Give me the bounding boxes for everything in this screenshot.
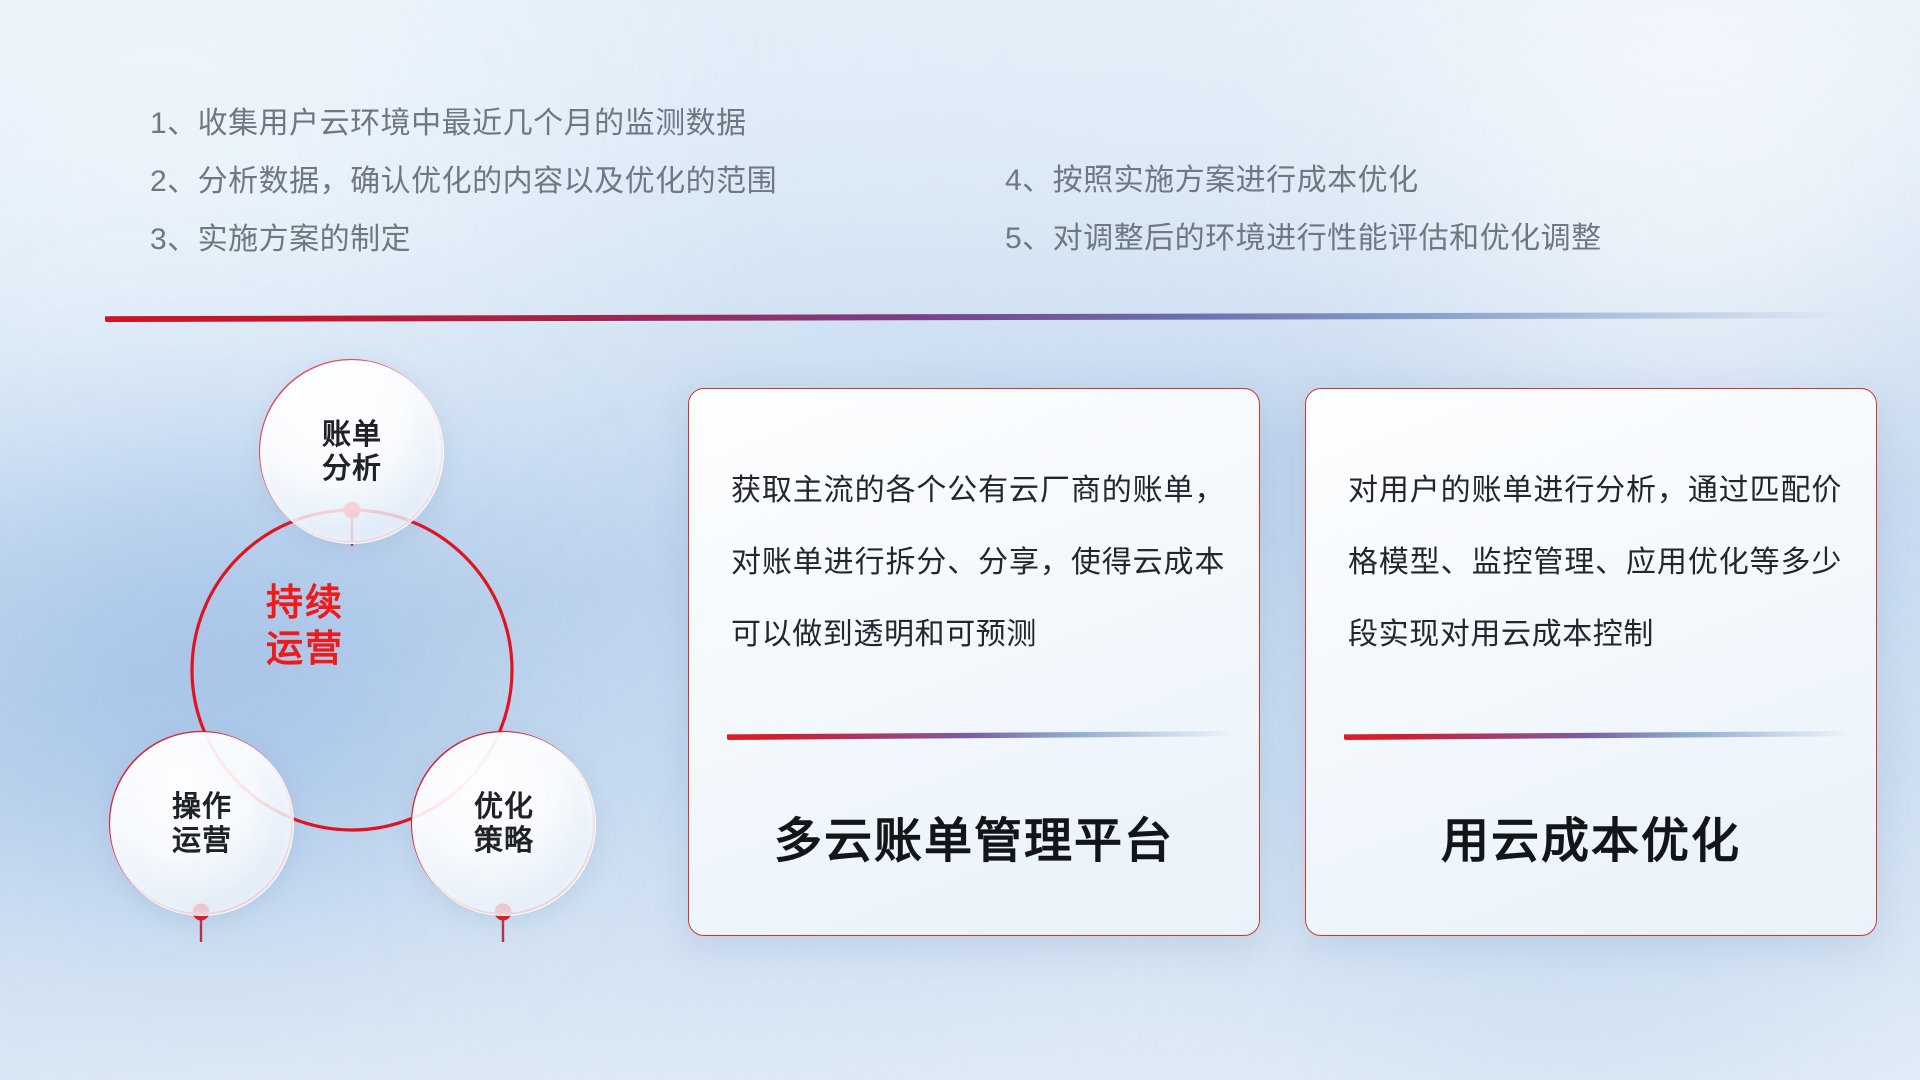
card-accent-rule [1344, 731, 1848, 740]
bullet-item: 3、实施方案的制定 [150, 211, 777, 269]
venn-bubble-label: 优化 策略 [474, 790, 534, 858]
card-accent-rule [727, 731, 1231, 740]
bullet-item: 5、对调整后的环境进行性能评估和优化调整 [1005, 210, 1602, 268]
feature-card-multicloud-billing[interactable]: 获取主流的各个公有云厂商的账单，对账单进行拆分、分享，使得云成本可以做到透明和可… [688, 388, 1260, 936]
bullet-list-right: 4、按照实施方案进行成本优化 5、对调整后的环境进行性能评估和优化调整 [1005, 152, 1602, 268]
venn-bubble-label: 账单 分析 [322, 418, 382, 486]
divider-bar [105, 312, 1847, 322]
venn-bubble-billing-analysis[interactable]: 账单 分析 [260, 360, 444, 544]
bullet-list-left: 1、收集用户云环境中最近几个月的监测数据 2、分析数据，确认优化的内容以及优化的… [150, 95, 777, 269]
bullet-item: 4、按照实施方案进行成本优化 [1005, 152, 1602, 210]
venn-bubble-operations[interactable]: 操作 运营 [110, 732, 294, 916]
card-description: 获取主流的各个公有云厂商的账单，对账单进行拆分、分享，使得云成本可以做到透明和可… [731, 455, 1225, 671]
feature-card-cost-optimization[interactable]: 对用户的账单进行分析，通过匹配价格模型、监控管理、应用优化等多少段实现对用云成本… [1305, 388, 1877, 936]
venn-bubble-optimization-strategy[interactable]: 优化 策略 [412, 732, 596, 916]
venn-bubble-label: 操作 运营 [172, 790, 232, 858]
card-title: 多云账单管理平台 [689, 801, 1259, 871]
venn-diagram: 持续 运营 账单 分析 操作 运营 优化 策略 [100, 350, 660, 950]
section-divider [105, 312, 1847, 322]
bullet-item: 1、收集用户云环境中最近几个月的监测数据 [150, 95, 777, 153]
card-description: 对用户的账单进行分析，通过匹配价格模型、监控管理、应用优化等多少段实现对用云成本… [1348, 455, 1842, 671]
bullet-item: 2、分析数据，确认优化的内容以及优化的范围 [150, 153, 777, 211]
venn-center-label: 持续 运营 [210, 580, 400, 672]
card-title: 用云成本优化 [1306, 801, 1876, 871]
